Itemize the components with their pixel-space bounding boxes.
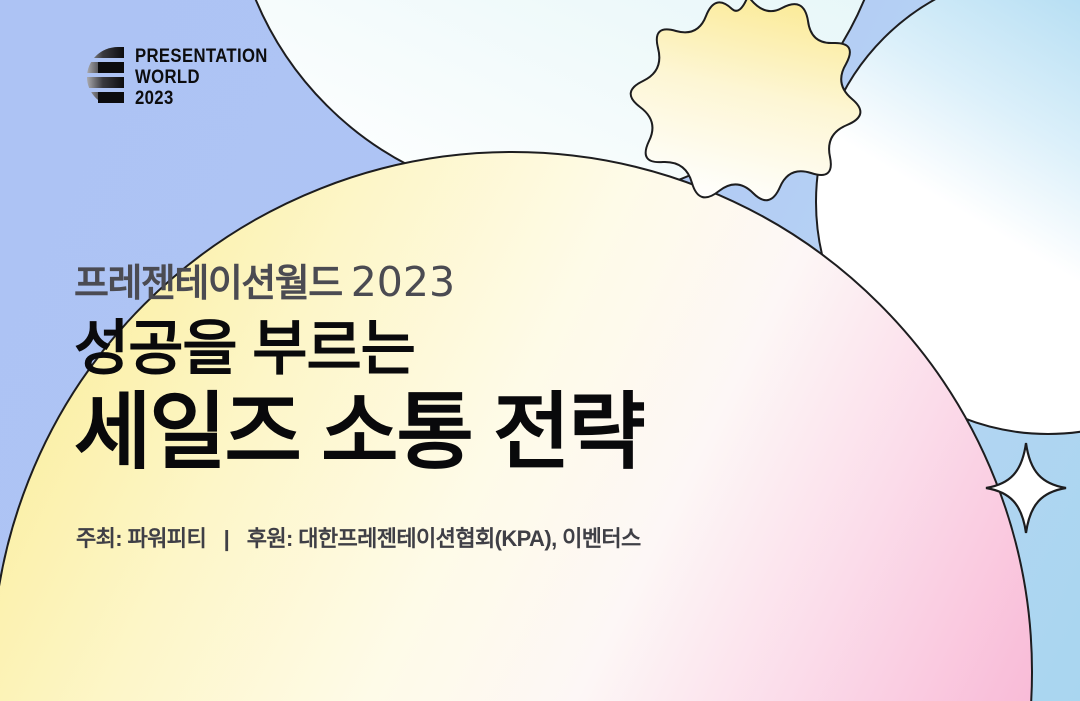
presentation-world-logo: PRESENTATION WORLD 2023 [72,46,286,108]
logo-line-2: WORLD [135,68,268,87]
logo-line-3: 2023 [135,89,268,108]
headline-line-2: 세일즈 소통 전략 [74,388,954,477]
event-name-korean: 프레젠테이션월드 [74,265,342,303]
headline-line-1: 성공을 부르는 [74,317,954,382]
event-poster: PRESENTATION WORLD 2023 프레젠테이션월드 2023 성공… [0,0,1080,701]
host-label: 주최: 파워피티 [76,526,206,551]
event-kicker: 프레젠테이션월드 2023 [74,262,954,303]
sponsor-label: 후원: 대한프레젠테이션협회(KPA), 이벤터스 [247,526,641,551]
globe-mark-icon [72,46,124,108]
event-year: 2023 [351,262,455,303]
logo-line-1: PRESENTATION [135,47,268,66]
credits-line: 주최: 파워피티 | 후원: 대한프레젠테이션협회(KPA), 이벤터스 [76,521,954,553]
credits-separator: | [212,526,242,552]
poster-copy-block: 프레젠테이션월드 2023 성공을 부르는 세일즈 소통 전략 주최: 파워피티… [74,262,954,553]
